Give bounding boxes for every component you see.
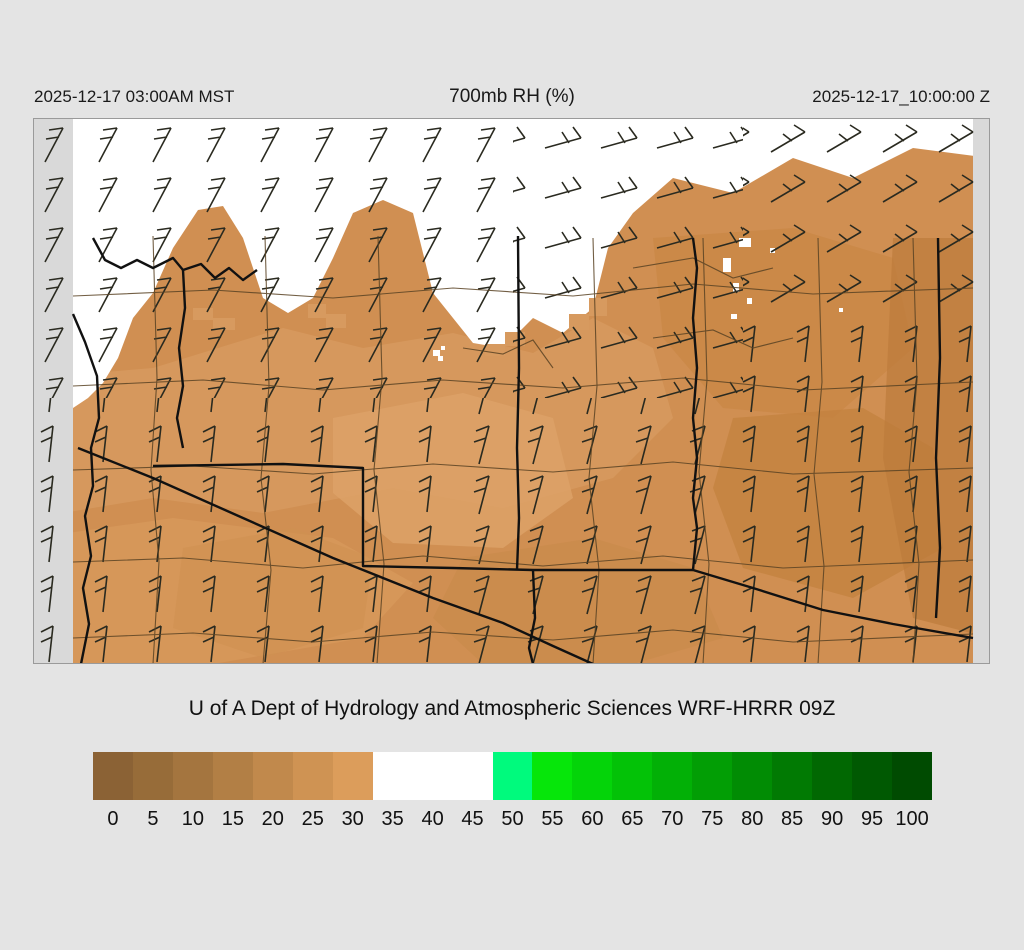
colorbar-swatch [692,752,732,800]
colorbar-swatch [173,752,213,800]
colorbar-swatch [453,752,493,800]
colorbar-swatch [373,752,413,800]
colorbar-swatch [852,752,892,800]
colorbar-swatch [812,752,852,800]
colorbar-swatch [493,752,533,800]
colorbar-tick-label: 100 [895,806,928,832]
colorbar-tick-label: 0 [107,806,118,832]
colorbar-tick-label: 30 [342,806,364,832]
colorbar-tick-label: 40 [421,806,443,832]
colorbar-swatch [93,752,133,800]
colorbar-tick-label: 25 [302,806,324,832]
colorbar-swatch [892,752,932,800]
colorbar-tick-label: 50 [501,806,523,832]
colorbar-swatch [253,752,293,800]
colorbar-tick-label: 65 [621,806,643,832]
colorbar-tick-label: 75 [701,806,723,832]
colorbar-tick-label: 10 [182,806,204,832]
colorbar-tick-label: 80 [741,806,763,832]
colorbar-swatch [413,752,453,800]
colorbar-swatch [333,752,373,800]
colorbar-tick-label: 70 [661,806,683,832]
colorbar-swatch [532,752,572,800]
source-caption: U of A Dept of Hydrology and Atmospheric… [0,697,1024,721]
colorbar-swatch [772,752,812,800]
map-header: 2025-12-17 03:00AM MST 700mb RH (%) 2025… [0,86,1024,112]
weather-map-panel[interactable] [33,118,990,664]
colorbar-swatch [293,752,333,800]
colorbar-swatch [652,752,692,800]
rh-contour-map[interactable] [33,118,990,664]
colorbar[interactable] [93,752,932,800]
colorbar-tick-label: 15 [222,806,244,832]
colorbar-swatch [612,752,652,800]
colorbar-swatch [133,752,173,800]
colorbar-swatch [572,752,612,800]
colorbar-tick-label: 85 [781,806,803,832]
wind-barbs-layer [33,118,990,664]
colorbar-swatch [732,752,772,800]
colorbar-tick-label: 95 [861,806,883,832]
colorbar-tick-label: 90 [821,806,843,832]
colorbar-strip[interactable] [93,752,932,800]
valid-time-utc: 2025-12-17_10:00:00 Z [812,86,990,108]
colorbar-swatch [213,752,253,800]
colorbar-tick-label: 5 [147,806,158,832]
colorbar-tick-label: 35 [382,806,404,832]
colorbar-tick-labels: 0510152025303540455055606570758085909510… [93,806,932,834]
colorbar-tick-label: 55 [541,806,563,832]
colorbar-tick-label: 60 [581,806,603,832]
colorbar-tick-label: 45 [461,806,483,832]
colorbar-tick-label: 20 [262,806,284,832]
